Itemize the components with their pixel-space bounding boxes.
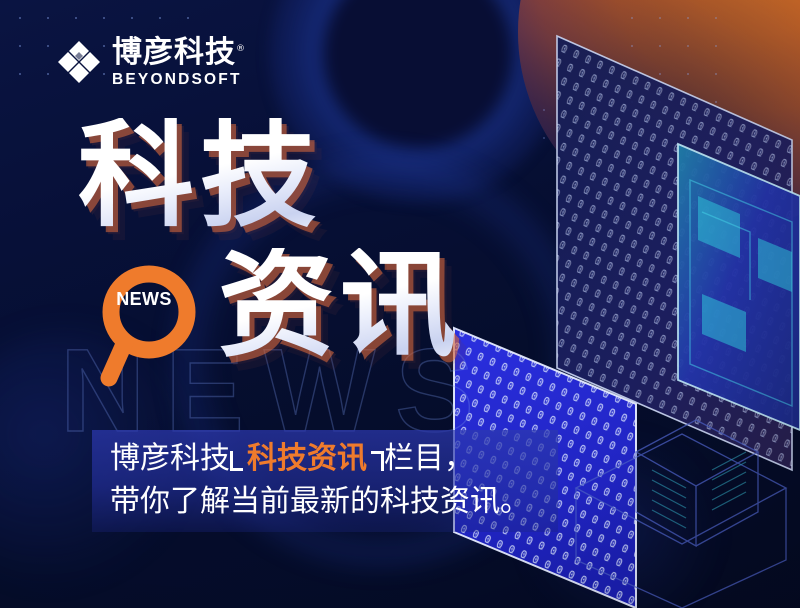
- news-poster: 1 0: [0, 0, 800, 608]
- bracket-open-icon: [230, 451, 243, 471]
- caption-block: 博彦科技科技资讯栏目， 带你了解当前最新的科技资讯。: [110, 438, 580, 523]
- bracket-close-icon: [371, 451, 384, 471]
- logo-wordmark: 博彦科技® BEYONDSOFT: [112, 36, 246, 88]
- caption-line-2: 带你了解当前最新的科技资讯。: [110, 481, 580, 524]
- caption-line-1: 博彦科技科技资讯栏目，: [110, 438, 580, 481]
- headline-text-zixun: 资讯: [218, 248, 462, 364]
- beyondsoft-diamond-logo-icon: [56, 39, 102, 85]
- headline-text-keji: 科技: [78, 118, 322, 234]
- headline-line-1: 科技: [78, 118, 462, 234]
- caption-prefix: 博彦科技: [110, 441, 230, 476]
- caption-highlight: 科技资讯: [247, 441, 367, 476]
- brand-logo[interactable]: 博彦科技® BEYONDSOFT: [56, 36, 246, 88]
- logo-chinese-name: 博彦科技®: [112, 38, 246, 68]
- magnifier-news-label: NEWS: [113, 289, 175, 310]
- logo-english-name: BEYONDSOFT: [112, 72, 246, 88]
- registered-trademark-icon: ®: [236, 44, 246, 54]
- magnifier-search-icon: [95, 262, 211, 390]
- caption-suffix: 栏目，: [384, 441, 474, 476]
